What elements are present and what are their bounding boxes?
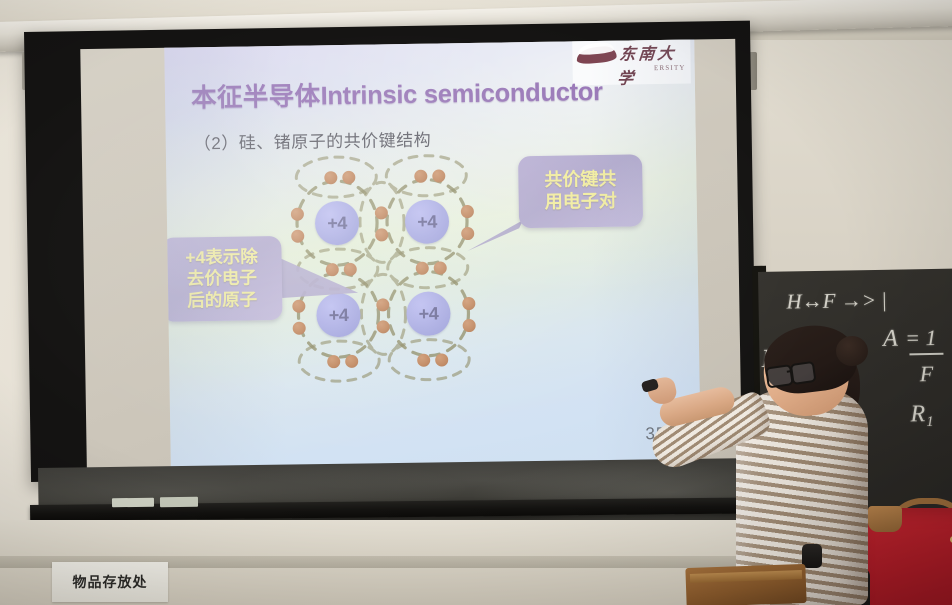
tail-left-callout: [280, 257, 359, 298]
projected-slide: 东南大学 ERSITY 本征半导体Intrinsic semiconductor…: [164, 39, 701, 467]
wrist-watch: [802, 544, 822, 568]
chalk-piece: [112, 498, 154, 507]
callout-line: +4表示除: [185, 246, 258, 268]
chalk-note: H↔F →> |: [786, 288, 887, 315]
storage-area-sign: 物品存放处: [52, 562, 168, 602]
glasses-lens-right: [790, 361, 817, 385]
classroom-photo: 东南大学 ERSITY 本征半导体Intrinsic semiconductor…: [0, 0, 952, 605]
bag-flap: [868, 506, 902, 532]
callout-line: 去价电子: [186, 268, 259, 290]
callout-line: 后的原子: [186, 289, 259, 311]
callout-line: 用电子对: [545, 191, 617, 214]
hair-bun: [836, 336, 868, 366]
chalk-piece: [160, 497, 198, 507]
callout-line: 共价键共: [544, 169, 616, 192]
callout-plus-four-meaning: +4表示除 去价电子 后的原子: [164, 236, 282, 322]
tail-right-callout: [467, 220, 523, 251]
callout-covalent-bond-pair: 共价键共 用电子对: [518, 154, 643, 228]
